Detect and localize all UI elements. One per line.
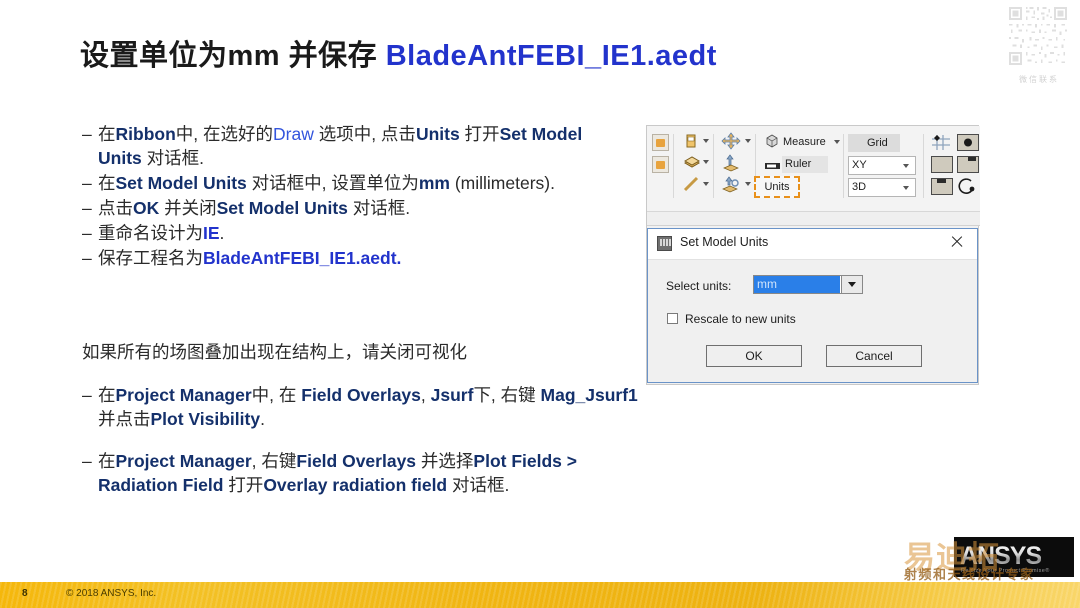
ribbon-tool-2[interactable] [652,156,669,173]
bullet-item: –保存工程名为BladeAntFEBI_IE1.aedt. [82,246,627,270]
duplicate-icon[interactable] [721,154,741,177]
title-mid: 并保存 [280,40,386,72]
text-segment: 并选择 [416,451,473,471]
close-icon[interactable] [949,234,965,250]
ruler-button[interactable]: Ruler [782,156,828,173]
chevron-down-icon[interactable] [703,139,709,143]
page-title: 设置单位为mm 并保存 BladeAntFEBI_IE1.aedt [80,32,717,74]
bullet-text: 在Project Manager中, 在 Field Overlays, Jsu… [98,383,642,431]
text-segment: 选项中, 点击 [314,124,416,144]
view-layout-3-button[interactable] [931,178,953,195]
text-segment: BladeAntFEBI_IE1.aedt. [203,248,401,268]
select-units-label: Select units: [666,279,731,293]
text-segment: Project Manager [116,451,252,471]
title-unit: mm [228,40,281,72]
title-prefix: 设置单位为 [80,40,228,72]
text-segment: , 右键 [252,451,297,471]
chevron-down-icon[interactable] [703,182,709,186]
text-segment: mm [419,173,450,193]
bullet-dash: – [82,196,98,220]
text-segment: Plot Visibility [151,409,261,429]
bullet-dash: – [82,171,98,195]
move-icon[interactable] [721,132,741,155]
bullet-dash: – [82,383,98,431]
text-segment: Draw [273,124,314,144]
ruler-icon [764,158,781,176]
ribbon-divider-strip [647,212,980,226]
text-segment: 对话框中, 设置单位为 [247,173,419,193]
bullet-item: –在Project Manager, 右键Field Overlays 并选择P… [82,449,642,497]
text-segment: Field Overlays [296,451,416,471]
grid-mode-select[interactable]: 3D [848,178,916,197]
draw-line-icon[interactable] [683,176,701,197]
set-model-units-dialog: Set Model Units Select units: mm Rescale… [647,228,978,383]
text-segment: 点击 [98,198,133,218]
text-segment: 对话框. [447,475,509,495]
text-segment: , [421,385,431,405]
view-window-button[interactable] [957,134,979,151]
bullet-dash: – [82,221,98,245]
qr-caption: 微信联系 [1005,74,1073,85]
rotate-view-icon[interactable] [957,178,977,200]
ok-button[interactable]: OK [706,345,802,367]
text-segment: 在 [98,451,116,471]
bullet-item: –在Set Model Units 对话框中, 设置单位为mm (millime… [82,171,627,195]
text-segment: IE [203,223,220,243]
bullet-dash: – [82,122,98,170]
bullet-text: 点击OK 并关闭Set Model Units 对话框. [98,196,627,220]
bullet-text: 在Ribbon中, 在选好的Draw 选项中, 点击Units 打开Set Mo… [98,122,627,170]
combo-dropdown-button[interactable] [841,276,862,293]
qr-code-icon [1005,5,1071,67]
text-segment: OK [133,198,159,218]
text-segment: 中, 在选好的 [176,124,273,144]
text-segment: Mag_Jsurf1 [541,385,638,405]
title-filename: BladeAntFEBI_IE1.aedt [386,40,717,72]
chevron-down-icon[interactable] [703,160,709,164]
chevron-down-icon [848,282,856,287]
rescale-label: Rescale to new units [685,312,796,326]
slide-footer: 8 © 2018 ANSYS, Inc. [0,582,1080,608]
grid-button[interactable]: Grid [848,134,900,152]
bullet-dash: – [82,246,98,270]
note-paragraph: 如果所有的场图叠加出现在结构上，请关闭可视化 [82,340,642,364]
view-layout-2-button[interactable] [957,156,979,173]
text-segment: Jsurf [431,385,474,405]
tool-glyph-icon [656,161,665,169]
text-segment: 在 [98,124,116,144]
aedt-ribbon: Measure Ruler Units Grid XY 3D [647,126,980,212]
qr-watermark: 微信联系 [1005,5,1073,85]
text-segment: 重命名设计为 [98,223,203,243]
draw-box-icon[interactable] [683,133,699,154]
text-segment: Project Manager [116,385,252,405]
ansys-logo-text: ANSYS [960,542,1041,571]
aedt-app-icon [657,236,672,251]
bullet-dash: – [82,449,98,497]
chevron-down-icon[interactable] [745,139,751,143]
bullet-list-top: –在Ribbon中, 在选好的Draw 选项中, 点击Units 打开Set M… [82,122,627,271]
chevron-down-icon[interactable] [903,164,909,168]
text-segment: 下, 右键 [473,385,540,405]
dialog-titlebar[interactable]: Set Model Units [648,229,977,260]
text-segment: 保存工程名为 [98,248,203,268]
text-segment: Set Model Units [217,198,348,218]
ansys-logo: ANSYS Realize Your Product Promise® [954,537,1074,577]
text-segment: Field Overlays [301,385,421,405]
grid-mode-value: 3D [852,181,866,193]
rescale-checkbox[interactable] [667,313,678,324]
text-segment: Set Model Units [116,173,247,193]
view-layout-1-button[interactable] [931,156,953,173]
bullet-text: 重命名设计为IE. [98,221,627,245]
bullet-text: 在Project Manager, 右键Field Overlays 并选择Pl… [98,449,642,497]
text-segment: Overlay radiation field [263,475,447,495]
snap-grid-icon[interactable] [931,134,951,156]
rotate-icon[interactable] [721,176,741,199]
text-segment: 打开 [223,475,263,495]
bullet-item: –在Ribbon中, 在选好的Draw 选项中, 点击Units 打开Set M… [82,122,627,170]
text-segment: 对话框. [142,148,204,168]
text-segment: . [220,223,225,243]
text-segment: (millimeters). [450,173,555,193]
measure-icon [764,134,779,153]
chevron-down-icon[interactable] [834,140,840,144]
bullet-item: –重命名设计为IE. [82,221,627,245]
chevron-down-icon[interactable] [903,186,909,190]
tool-glyph-icon [656,139,665,147]
copyright-text: © 2018 ANSYS, Inc. [66,588,156,599]
bullet-item: –点击OK 并关闭Set Model Units 对话框. [82,196,627,220]
grid-plane-select[interactable]: XY [848,156,916,175]
text-segment: Units [416,124,460,144]
grid-plane-value: XY [852,159,867,171]
ribbon-tool-1[interactable] [652,134,669,151]
select-units-value: mm [754,276,840,293]
bullet-list-bottom: –在Project Manager中, 在 Field Overlays, Js… [82,383,642,515]
bullet-item: –在Project Manager中, 在 Field Overlays, Js… [82,383,642,431]
text-segment: . [260,409,265,429]
ansys-logo-subtitle: Realize Your Product Promise® [961,568,1050,574]
text-segment: 对话框. [348,198,410,218]
chevron-down-icon[interactable] [745,182,751,186]
select-units-combo[interactable]: mm [753,275,863,294]
bullet-text: 在Set Model Units 对话框中, 设置单位为mm (millimet… [98,171,627,195]
cancel-button[interactable]: Cancel [826,345,922,367]
page-number: 8 [22,588,28,599]
text-segment: 在 [98,385,116,405]
text-segment: 打开 [460,124,500,144]
text-segment: Ribbon [116,124,176,144]
text-segment: 中, 在 [252,385,302,405]
text-segment: 并点击 [98,409,151,429]
bullet-text: 保存工程名为BladeAntFEBI_IE1.aedt. [98,246,627,270]
units-button[interactable]: Units [754,176,800,198]
dialog-title: Set Model Units [680,235,768,249]
text-segment: 在 [98,173,116,193]
draw-plane-icon[interactable] [683,155,701,174]
text-segment: 并关闭 [159,198,216,218]
